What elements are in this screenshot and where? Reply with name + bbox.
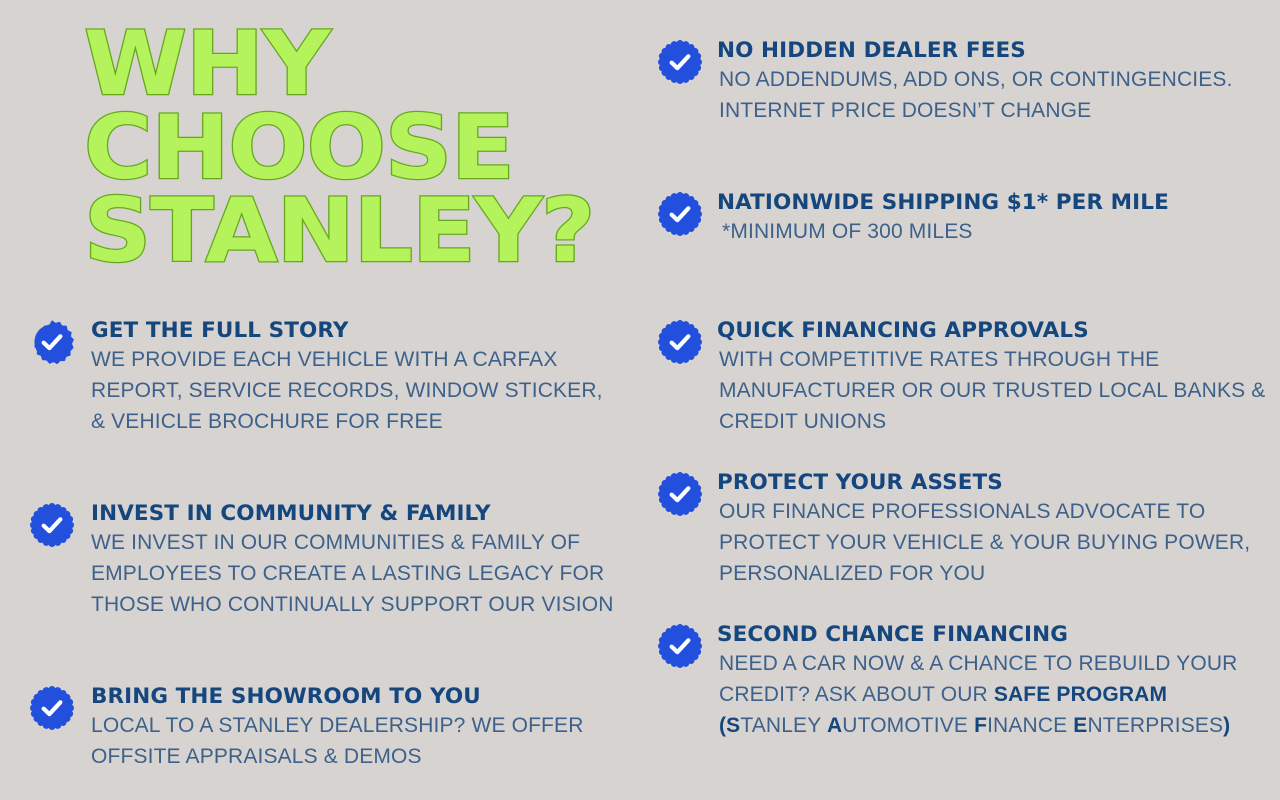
feature-title: NATIONWIDE SHIPPING $1* PER MILE [717,190,1270,216]
feature-description: *MINIMUM OF 300 MILES [714,217,1270,248]
feature-description: NEED A CAR NOW & A CHANCE TO REBUILD YOU… [714,649,1270,742]
feature-title: PROTECT YOUR ASSETS [717,470,1270,496]
feature-description: WITH COMPETITIVE RATES THROUGH THE MANUF… [714,345,1270,438]
verified-check-badge-icon [658,192,702,236]
feature-title: BRING THE SHOWROOM TO YOU [91,684,615,710]
feature-body: NATIONWIDE SHIPPING $1* PER MILE *MINIMU… [714,190,1270,248]
feature-description: LOCAL TO A STANLEY DEALERSHIP? WE OFFER … [86,711,615,773]
verified-check-badge-icon [658,624,702,668]
feature-title: INVEST IN COMMUNITY & FAMILY [91,501,615,527]
headline-line-2: CHOOSE [84,106,635,190]
feature-body: BRING THE SHOWROOM TO YOU LOCAL TO A STA… [86,684,615,773]
left-column: WHY CHOOSE STANLEY? GET THE FULL STORY W… [0,0,628,800]
verified-check-badge-icon [30,503,74,547]
feature-body: GET THE FULL STORY WE PROVIDE EACH VEHIC… [86,318,615,438]
feature-item-showroom: BRING THE SHOWROOM TO YOU LOCAL TO A STA… [30,684,615,773]
verified-check-badge-icon [658,320,702,364]
verified-check-badge-icon [30,686,74,730]
feature-description: WE PROVIDE EACH VEHICLE WITH A CARFAX RE… [86,345,615,438]
feature-body: NO HIDDEN DEALER FEES NO ADDENDUMS, ADD … [714,38,1270,127]
feature-description: NO ADDENDUMS, ADD ONS, OR CONTINGENCIES.… [714,65,1270,127]
feature-item-protect-assets: PROTECT YOUR ASSETS OUR FINANCE PROFESSI… [658,470,1270,590]
feature-description: OUR FINANCE PROFESSIONALS ADVOCATE TO PR… [714,497,1270,590]
feature-title: SECOND CHANCE FINANCING [717,622,1270,648]
feature-body: INVEST IN COMMUNITY & FAMILY WE INVEST I… [86,501,615,621]
headline-line-1: WHY [84,22,635,106]
feature-item-community: INVEST IN COMMUNITY & FAMILY WE INVEST I… [30,501,615,621]
feature-body: SECOND CHANCE FINANCING NEED A CAR NOW &… [714,622,1270,742]
why-choose-stanley-poster: WHY CHOOSE STANLEY? GET THE FULL STORY W… [0,0,1280,800]
feature-body: QUICK FINANCING APPROVALS WITH COMPETITI… [714,318,1270,438]
right-column: NO HIDDEN DEALER FEES NO ADDENDUMS, ADD … [640,0,1280,800]
feature-title: NO HIDDEN DEALER FEES [717,38,1270,64]
feature-item-nationwide-shipping: NATIONWIDE SHIPPING $1* PER MILE *MINIMU… [658,190,1270,248]
verified-check-badge-icon [658,472,702,516]
feature-description: WE INVEST IN OUR COMMUNITIES & FAMILY OF… [86,528,615,621]
feature-item-quick-financing: QUICK FINANCING APPROVALS WITH COMPETITI… [658,318,1270,438]
verified-check-badge-icon [30,320,74,364]
feature-item-second-chance-financing: SECOND CHANCE FINANCING NEED A CAR NOW &… [658,622,1270,742]
feature-body: PROTECT YOUR ASSETS OUR FINANCE PROFESSI… [714,470,1270,590]
feature-item-no-hidden-fees: NO HIDDEN DEALER FEES NO ADDENDUMS, ADD … [658,38,1270,127]
headline-line-3: STANLEY? [84,189,635,273]
feature-item-full-story: GET THE FULL STORY WE PROVIDE EACH VEHIC… [30,318,615,438]
verified-check-badge-icon [658,40,702,84]
page-title: WHY CHOOSE STANLEY? [84,22,635,273]
feature-title: GET THE FULL STORY [91,318,615,344]
feature-title: QUICK FINANCING APPROVALS [717,318,1270,344]
